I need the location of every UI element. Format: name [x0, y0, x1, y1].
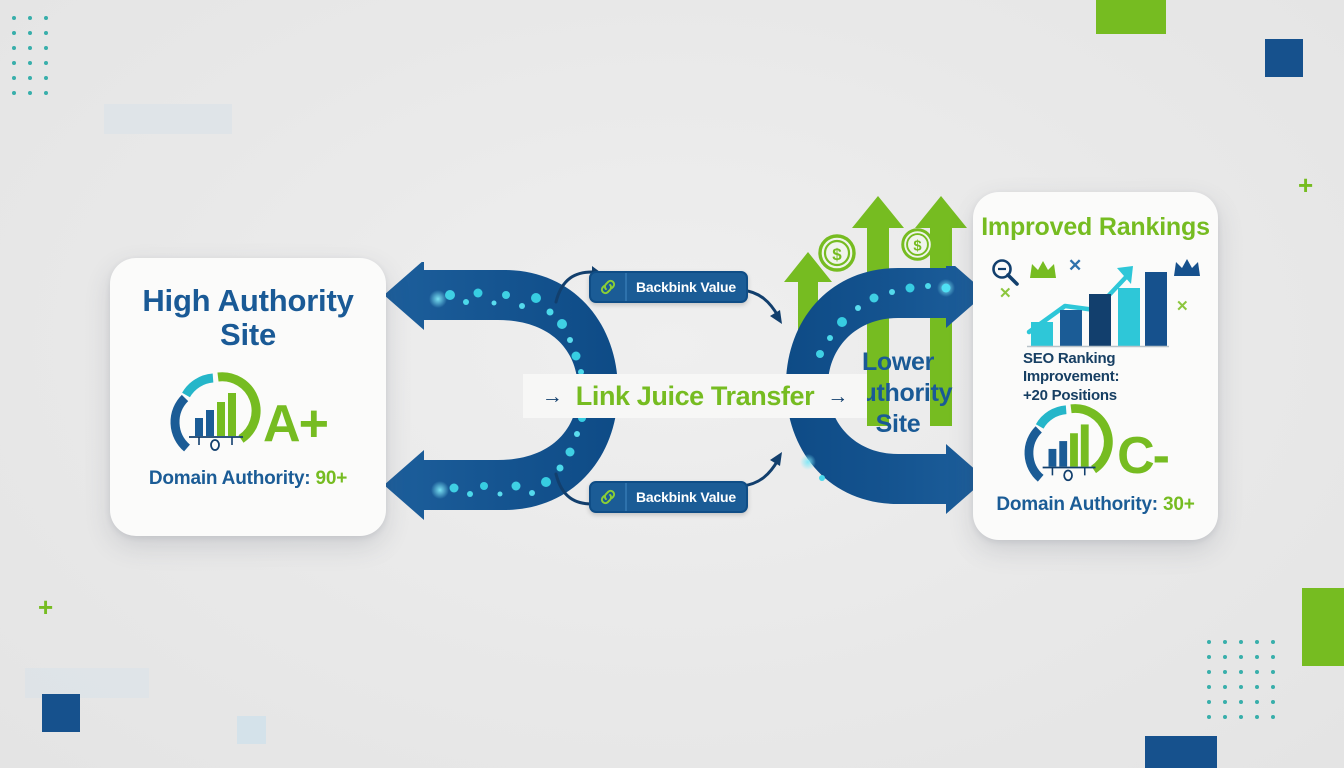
- right-da-label: Domain Authority:: [996, 494, 1158, 515]
- dot-grid-bottomright: [1207, 640, 1287, 730]
- right-da-value: 30+: [1163, 494, 1195, 515]
- seo-caption-line2: +20 Positions: [1023, 387, 1213, 405]
- backlink-value-label: Backbink Value: [627, 273, 746, 301]
- close-x-icon-green-2: ✕: [1176, 297, 1189, 315]
- crown-icon-blue: [1173, 258, 1201, 278]
- deco-rect-green-top: [1096, 0, 1166, 34]
- seo-caption-line1: SEO Ranking Improvement:: [1023, 350, 1213, 387]
- right-gauge-block: C-: [973, 397, 1218, 493]
- connector-arrow-bottom-right: [740, 448, 788, 490]
- left-domain-authority: Domain Authority: 90+: [110, 468, 386, 490]
- deco-rect-blue-bottomright: [1145, 736, 1217, 768]
- left-gauge-block: A+: [110, 366, 386, 462]
- arrow-right-icon-right: →: [827, 386, 848, 407]
- improved-rankings-card[interactable]: Improved Rankings ✕ ✕ ✕: [973, 192, 1218, 540]
- chain-link-icon: [591, 273, 627, 301]
- right-grade: C-: [1117, 434, 1168, 478]
- link-juice-transfer-label: Link Juice Transfer: [576, 381, 815, 412]
- left-card-title-line2: Site: [110, 318, 386, 352]
- deco-rect-green-bottomright: [1302, 588, 1344, 666]
- backlink-value-badge-top[interactable]: Backbink Value: [589, 271, 748, 303]
- plus-mark-topright: +: [1298, 172, 1313, 198]
- left-da-value: 90+: [316, 468, 348, 489]
- seo-gauge-icon: [169, 366, 271, 462]
- seo-ranking-caption: SEO Ranking Improvement: +20 Positions: [1023, 350, 1213, 405]
- backlink-value-label: Backbink Value: [627, 483, 746, 511]
- dot-grid-topleft: [12, 16, 60, 106]
- left-da-label: Domain Authority:: [149, 468, 311, 489]
- crown-icon-green: [1029, 260, 1057, 280]
- right-domain-authority: Domain Authority: 30+: [973, 494, 1218, 516]
- left-grade: A+: [263, 402, 327, 446]
- dollar-coin-icon-2: $: [901, 228, 934, 261]
- high-authority-site-card[interactable]: High Authority Site A+: [110, 258, 386, 536]
- backlink-value-badge-bottom[interactable]: Backbink Value: [589, 481, 748, 513]
- seo-gauge-icon: [1023, 398, 1123, 492]
- svg-text:$: $: [913, 239, 921, 255]
- chain-link-icon: [591, 483, 627, 511]
- link-juice-transfer-bar: → Link Juice Transfer →: [523, 374, 867, 418]
- svg-text:$: $: [832, 245, 842, 264]
- plus-mark-bottomleft: +: [38, 594, 53, 620]
- deco-rect-blue-top: [1265, 39, 1303, 77]
- deco-rect-gray-topleft: [104, 104, 232, 134]
- deco-rect-blue-bottomleft: [42, 694, 80, 732]
- left-card-title: High Authority Site: [110, 284, 386, 352]
- arrow-right-icon-left: →: [542, 386, 563, 407]
- diagram-canvas: + +: [0, 0, 1344, 768]
- deco-rect-lightblue-bottom: [237, 716, 266, 744]
- dollar-coin-icon-1: $: [818, 234, 856, 272]
- left-card-title-line1: High Authority: [110, 284, 386, 318]
- close-x-icon-green: ✕: [999, 284, 1012, 302]
- close-x-icon-blue: ✕: [1068, 256, 1082, 276]
- right-card-title: Improved Rankings: [973, 214, 1218, 242]
